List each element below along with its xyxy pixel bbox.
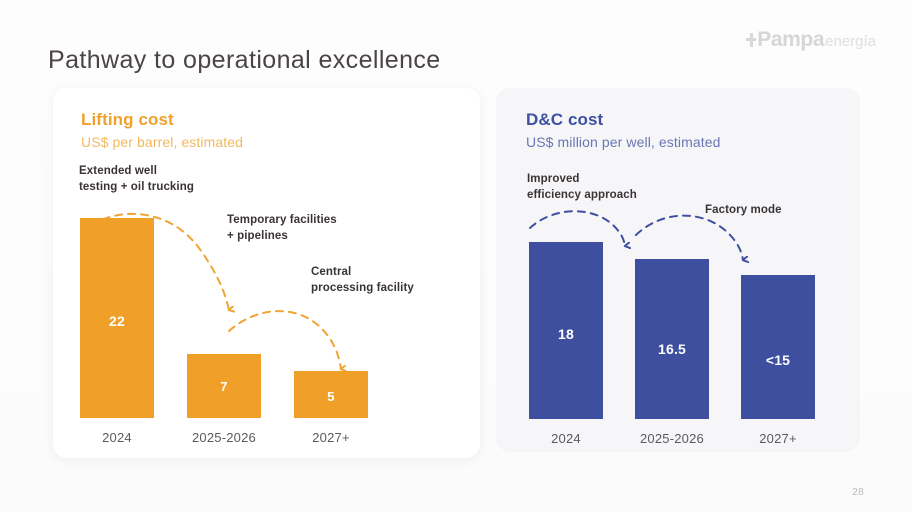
slide-canvas: Pampa energía Pathway to operational exc… [0, 0, 912, 512]
dc-cost-chart: Improved efficiency approach Factory mod… [496, 88, 860, 452]
bar-2025-2026 [635, 259, 709, 419]
bar-value-2027-plus: 5 [294, 389, 368, 404]
annotation-central-processing-facility: Central processing facility [311, 265, 414, 296]
pampa-energia-logo: Pampa energía [746, 28, 876, 52]
bar-value-2025-2026: 7 [187, 379, 261, 394]
lifting-cost-card: Lifting cost US$ per barrel, estimated E… [53, 88, 480, 458]
bar-value-2027-plus: <15 [741, 352, 815, 368]
logo-secondary-text: energía [825, 33, 876, 50]
annotation-factory-mode: Factory mode [705, 203, 782, 219]
bar-value-2024: 22 [80, 313, 154, 329]
category-label-2025-2026: 2025-2026 [177, 430, 271, 445]
category-label-2027-plus: 2027+ [731, 431, 825, 446]
annotation-temporary-facilities: Temporary facilities + pipelines [227, 213, 337, 244]
category-label-2027-plus: 2027+ [284, 430, 378, 445]
bar-value-2025-2026: 16.5 [635, 341, 709, 357]
dc-cost-card: D&C cost US$ million per well, estimated… [496, 88, 860, 452]
category-label-2024: 2024 [519, 431, 613, 446]
annotation-improved-efficiency: Improved efficiency approach [527, 172, 637, 203]
category-label-2024: 2024 [70, 430, 164, 445]
logo-plus-mark-icon [746, 33, 756, 47]
bar-2027-plus [741, 275, 815, 419]
category-label-2025-2026: 2025-2026 [625, 431, 719, 446]
lifting-cost-chart: Extended well testing + oil trucking Tem… [53, 88, 480, 458]
page-title: Pathway to operational excellence [48, 46, 441, 75]
bar-value-2024: 18 [529, 326, 603, 342]
page-number: 28 [852, 487, 864, 498]
logo-primary-text: Pampa [757, 28, 824, 52]
annotation-extended-well-testing: Extended well testing + oil trucking [79, 164, 194, 195]
